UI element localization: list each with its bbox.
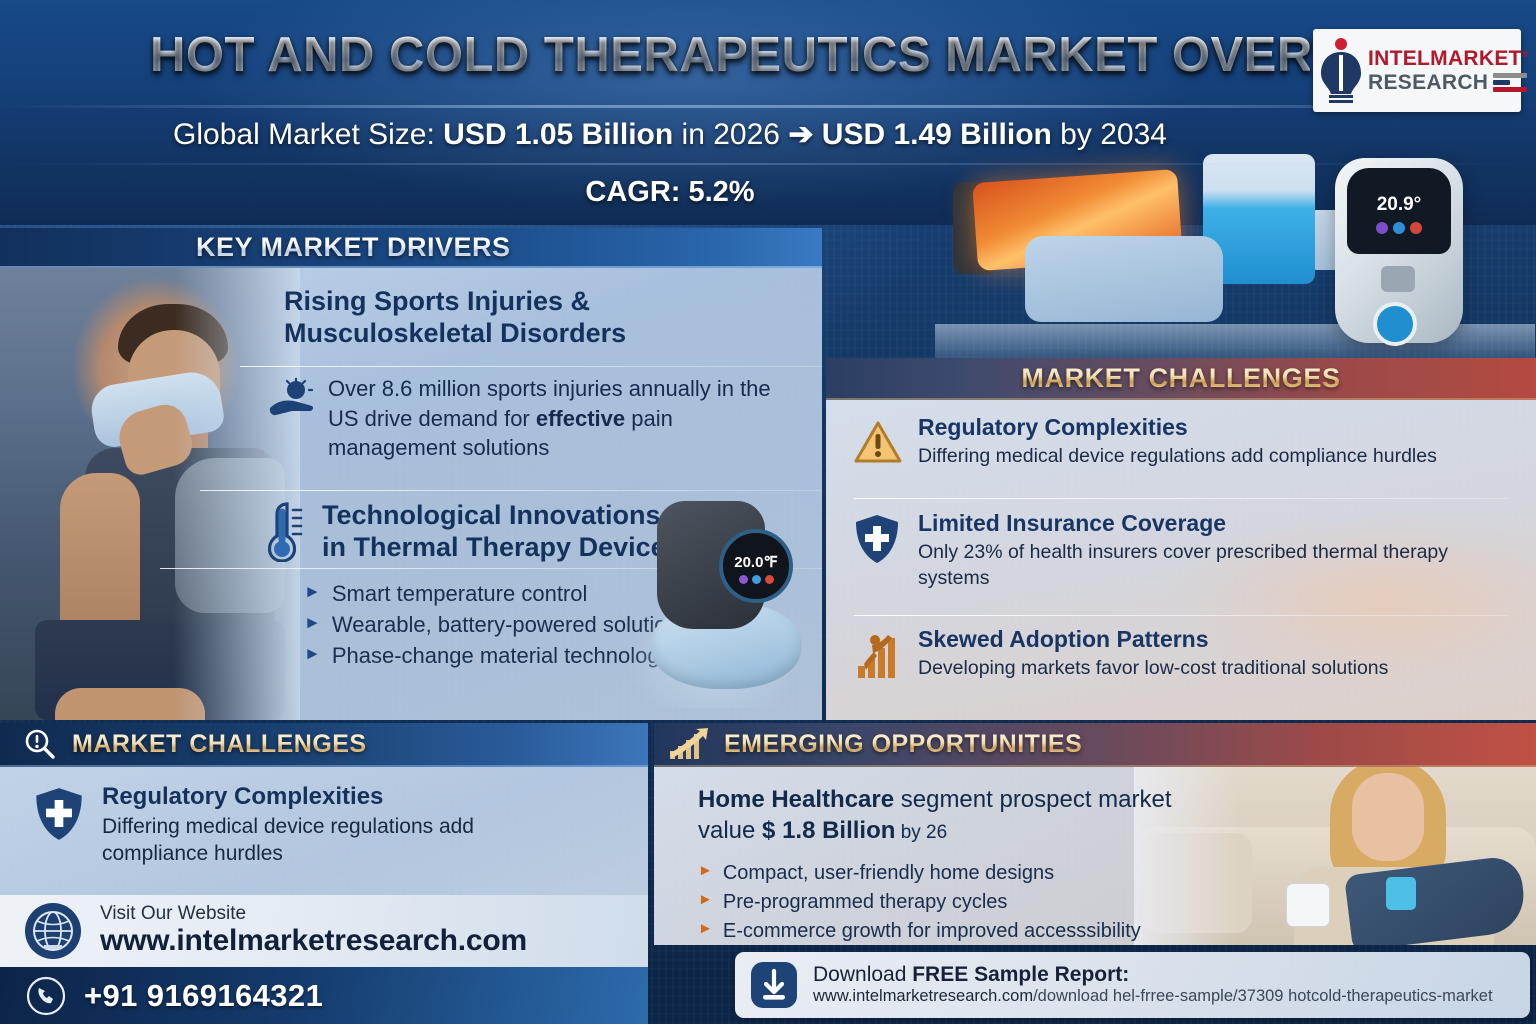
watch-mode-dot-3 <box>765 575 774 584</box>
growth-arrow-icon <box>668 727 710 761</box>
driver-1-body-bold: effective <box>536 406 625 431</box>
emerging-bullet-2: Pre-programmed therapy cycles <box>723 888 1008 917</box>
driver-divider-1 <box>240 366 822 367</box>
challenge-1-heading: Regulatory Complexities <box>918 414 1514 441</box>
device-power-button <box>1373 302 1417 346</box>
market-challenges-right-body: Regulatory Complexities Differing medica… <box>826 400 1536 720</box>
market-challenges-right-section: MARKET CHALLENGES Regulatory Complexitie… <box>826 358 1536 720</box>
header-divider-line-1 <box>0 105 1536 108</box>
website-label: Visit Our Website <box>100 904 527 925</box>
globe-icon <box>24 902 82 960</box>
triangle-bullet-icon: ► <box>698 917 713 941</box>
watch-mode-icons <box>723 575 789 584</box>
challenge-2-text: Only 23% of health insurers cover prescr… <box>918 540 1514 591</box>
market-size-to: USD 1.49 Billion <box>813 118 1051 151</box>
emerging-lead-text: Home Healthcare segment prospect market … <box>698 785 1218 847</box>
triangle-bullet-icon: ► <box>304 578 321 606</box>
triangle-bullet-icon: ► <box>304 640 321 668</box>
key-drivers-panel: Rising Sports Injuries & Musculoskeletal… <box>0 268 822 720</box>
driver-item-1-body-block: Over 8.6 million sports injuries annuall… <box>268 374 788 463</box>
blue-pillow-image <box>1025 236 1223 322</box>
driver-1-title-line-2: Musculoskeletal Disorders <box>284 318 784 350</box>
emerging-opportunities-title: EMERGING OPPORTUNITIES <box>724 730 1082 759</box>
emerging-lead-bold-1: Home Healthcare <box>698 786 894 813</box>
shield-plus-icon <box>854 510 902 591</box>
bottom-challenge-text-line-1: Differing medical device regulations add <box>102 813 614 840</box>
market-size-label: Global Market Size: <box>173 118 443 151</box>
download-label-a: Download <box>813 963 912 986</box>
wearable-watch-photo: 20.0℉ <box>615 493 820 708</box>
download-sample-box[interactable]: Download FREE Sample Report: www.intelma… <box>735 952 1530 1018</box>
list-item: ►Pre-programmed therapy cycles <box>698 888 1218 917</box>
bottom-challenge-text-line-2: compliance hurdles <box>102 840 614 867</box>
magnifier-exclamation-icon <box>24 728 56 760</box>
phone-icon <box>26 976 66 1016</box>
download-url-path: /download hel-frree-sample/37309 hotcold… <box>1033 987 1493 1005</box>
challenge-item-3: Skewed Adoption Patterns Developing mark… <box>854 626 1514 682</box>
logo-line-2: RESEARCH <box>1368 72 1529 93</box>
market-challenges-right-header: MARKET CHALLENGES <box>826 358 1536 400</box>
challenge-item-1: Regulatory Complexities Differing medica… <box>854 414 1514 470</box>
thermometer-icon <box>268 500 308 563</box>
market-challenges-bottom-body: Regulatory Complexities Differing medica… <box>0 767 648 895</box>
athlete-photo <box>0 268 300 720</box>
warning-triangle-icon <box>854 414 902 470</box>
driver-2-bullet-1: Smart temperature control <box>332 578 588 609</box>
download-icon <box>749 960 799 1010</box>
logo-wordmark: INTELMARKET® RESEARCH <box>1368 48 1529 93</box>
device-mode-dot-2 <box>1393 222 1405 234</box>
watch-mode-dot-1 <box>739 575 748 584</box>
triangle-bullet-icon: ► <box>698 888 713 912</box>
device-mode-icons <box>1347 222 1451 234</box>
hand-joint-care-icon <box>268 374 314 463</box>
watch-temperature-readout: 20.0℉ <box>723 553 789 571</box>
challenge-item-2: Limited Insurance Coverage Only 23% of h… <box>854 510 1514 591</box>
market-size-subtitle: Global Market Size: USD 1.05 Billion in … <box>120 117 1220 152</box>
thermal-therapy-device-image: 20.9° <box>1335 158 1463 343</box>
logo-line-1: INTELMARKET® <box>1368 48 1529 69</box>
market-size-from: USD 1.05 Billion <box>443 118 673 151</box>
challenge-3-text: Developing markets favor low-cost tradit… <box>918 656 1514 682</box>
challenge-2-heading: Limited Insurance Coverage <box>918 510 1514 537</box>
logo-bulb-icon <box>1319 37 1363 105</box>
flag-bar-grey <box>1493 73 1527 78</box>
emerging-lead-tail: by 26 <box>895 822 947 843</box>
driver-divider-2 <box>200 490 822 491</box>
download-text-block: Download FREE Sample Report: www.intelma… <box>813 963 1493 1008</box>
emerging-opportunities-text-block: Home Healthcare segment prospect market … <box>698 785 1218 945</box>
cagr-value: CAGR: 5.2% <box>120 176 1220 209</box>
market-size-arrow: ➔ <box>788 118 813 151</box>
device-screen: 20.9° <box>1347 168 1451 254</box>
company-logo[interactable]: INTELMARKET® RESEARCH <box>1313 29 1521 112</box>
download-url[interactable]: www.intelmarketresearch.com/download hel… <box>813 987 1493 1007</box>
market-challenges-bottom-title: MARKET CHALLENGES <box>72 730 367 759</box>
athlete-photo-fade <box>0 268 300 720</box>
list-item: ►E-commerce growth for improved accesssi… <box>698 917 1218 945</box>
infographic-root: 20.9° HOT AND COLD THERAPEUTICS MARKET O… <box>0 0 1536 1024</box>
website-text-block: Visit Our Website www.intelmarketresearc… <box>100 904 527 959</box>
bottom-challenge-item: Regulatory Complexities Differing medica… <box>34 783 614 868</box>
header-divider-line-2 <box>0 163 1536 165</box>
download-url-domain: www.intelmarketresearch.com <box>813 987 1033 1005</box>
key-drivers-section-header: KEY MARKET DRIVERS <box>0 228 822 268</box>
market-size-in-year: in 2026 <box>673 118 788 151</box>
flag-bar-red <box>1493 87 1527 92</box>
device-mode-dot-1 <box>1376 222 1388 234</box>
emerging-lead-bold-2: $ 1.8 Billion <box>762 817 895 844</box>
page-title: HOT AND COLD THERAPEUTICS MARKET OVERVIE… <box>150 27 1310 83</box>
flag-bar-navy <box>1493 80 1510 85</box>
driver-1-body-text: Over 8.6 million sports injuries annuall… <box>328 374 788 463</box>
challenge-3-heading: Skewed Adoption Patterns <box>918 626 1514 653</box>
watch-band: 20.0℉ <box>657 501 765 629</box>
download-label: Download FREE Sample Report: <box>813 963 1493 988</box>
emerging-opportunities-header: EMERGING OPPORTUNITIES <box>654 723 1536 767</box>
phone-bar[interactable]: +91 9169164321 <box>0 967 648 1024</box>
driver-item-1-title-block: Rising Sports Injuries & Musculoskeletal… <box>284 286 784 349</box>
shield-plus-icon <box>34 783 86 868</box>
market-challenges-bottom-header: MARKET CHALLENGES <box>0 723 648 767</box>
triangle-bullet-icon: ► <box>698 859 713 883</box>
list-item: ►Compact, user-friendly home designs <box>698 859 1218 888</box>
triangle-bullet-icon: ► <box>304 609 321 637</box>
emerging-bullet-list: ►Compact, user-friendly home designs ►Pr… <box>698 859 1218 945</box>
challenge-divider-2 <box>854 615 1508 616</box>
logo-registered-mark: ® <box>1522 49 1529 59</box>
logo-flag-bars <box>1493 73 1527 92</box>
emerging-bullet-3: E-commerce growth for improved accesssib… <box>723 917 1141 945</box>
challenge-1-text: Differing medical device regulations add… <box>918 444 1514 470</box>
market-size-by-year: by 2034 <box>1052 118 1167 151</box>
watch-face: 20.0℉ <box>719 529 793 603</box>
website-url[interactable]: www.intelmarketresearch.com <box>100 924 527 958</box>
emerging-opportunities-body: Home Healthcare segment prospect market … <box>654 767 1536 945</box>
header-banner: 20.9° HOT AND COLD THERAPEUTICS MARKET O… <box>0 0 1536 225</box>
device-temperature-readout: 20.9° <box>1347 194 1451 216</box>
bar-chart-climb-icon <box>854 626 902 682</box>
device-mode-dot-3 <box>1410 222 1422 234</box>
website-bar[interactable]: Visit Our Website www.intelmarketresearc… <box>0 895 648 967</box>
bottom-challenge-heading: Regulatory Complexities <box>102 783 614 811</box>
emerging-bullet-1: Compact, user-friendly home designs <box>723 859 1054 888</box>
market-challenges-right-title: MARKET CHALLENGES <box>1021 363 1340 394</box>
logo-research-text: RESEARCH <box>1368 72 1488 93</box>
challenge-divider-1 <box>854 498 1508 499</box>
phone-number[interactable]: +91 9169164321 <box>84 978 323 1014</box>
driver-1-title-line-1: Rising Sports Injuries & <box>284 286 784 318</box>
watch-mode-dot-2 <box>752 575 761 584</box>
download-label-b: FREE Sample Report: <box>912 963 1129 986</box>
key-drivers-section-title: KEY MARKET DRIVERS <box>196 232 511 263</box>
logo-intelmarket-text: INTELMARKET <box>1368 47 1522 70</box>
device-center-button <box>1381 266 1415 292</box>
